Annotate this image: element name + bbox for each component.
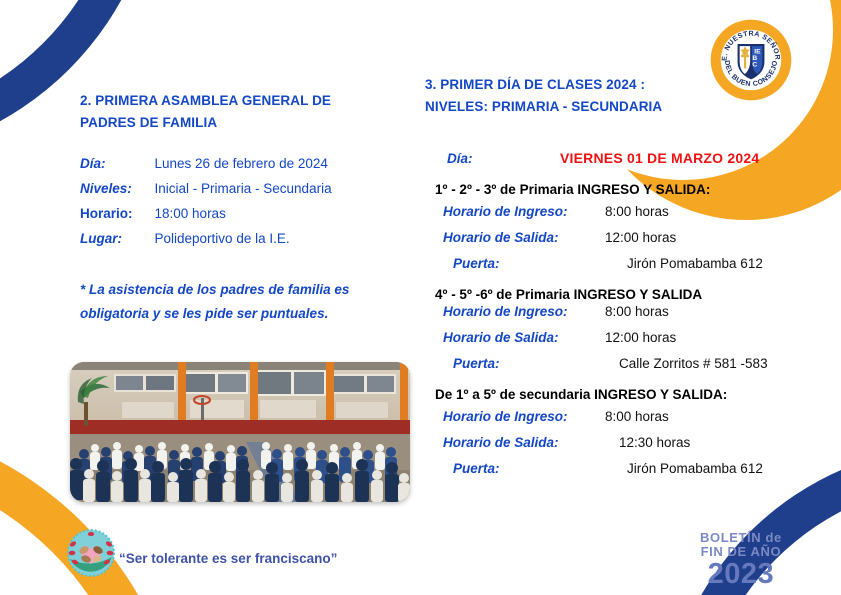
left-heading-line-1: 2. PRIMERA ASAMBLEA GENERAL DE: [80, 93, 331, 108]
row-value-horario-salida: 12:00 horas: [605, 330, 676, 345]
right-heading-line-1: 3. PRIMER DÍA DE CLASES 2024 :: [425, 77, 645, 92]
left-section-heading: 2. PRIMERA ASAMBLEA GENERAL DE PADRES DE…: [80, 90, 410, 134]
asamblea-details-table: Día: Lunes 26 de febrero de 2024 Niveles…: [80, 156, 332, 256]
table-row: Lugar: Polideportivo de la I.E.: [80, 231, 332, 256]
row-value-puerta: Jirón Pomabamba 612: [605, 461, 763, 476]
row-value-horario-salida: 12:00 horas: [605, 230, 676, 245]
schedule-group-primaria-1-3: 1º - 2º - 3º de Primaria INGRESO Y SALID…: [425, 182, 825, 271]
right-heading-line-2: NIVELES: PRIMARIA - SECUNDARIA: [425, 99, 662, 114]
section-primer-dia-de-clases: 3. PRIMER DÍA DE CLASES 2024 : NIVELES: …: [425, 74, 825, 487]
row-label-puerta: Puerta:: [425, 256, 605, 271]
franciscano-logo-icon: [66, 528, 116, 578]
left-heading-line-2: PADRES DE FAMILIA: [80, 115, 217, 130]
primer-dia-date-row: Día: VIERNES 01 DE MARZO 2024: [425, 150, 825, 166]
detail-label-niveles: Niveles:: [80, 181, 155, 206]
schedule-row: Puerta: Jirón Pomabamba 612: [425, 461, 825, 476]
detail-label-lugar: Lugar:: [80, 231, 155, 256]
school-tagline: “Ser tolerante es ser franciscano”: [119, 551, 337, 566]
dia-value: VIERNES 01 DE MARZO 2024: [560, 150, 759, 166]
schedule-row: Horario de Salida: 12:00 horas: [425, 230, 825, 245]
boletin-line-2: FIN DE AÑO: [700, 545, 782, 559]
detail-value-horario: 18:00 horas: [155, 206, 332, 231]
table-row: Niveles: Inicial - Primaria - Secundaria: [80, 181, 332, 206]
schedule-row: Puerta: Jirón Pomabamba 612: [425, 256, 825, 271]
row-value-horario-ingreso: 8:00 horas: [605, 409, 669, 424]
row-label-puerta: Puerta:: [425, 461, 605, 476]
detail-value-niveles: Inicial - Primaria - Secundaria: [155, 181, 332, 206]
row-label-horario-ingreso: Horario de Ingreso:: [425, 204, 605, 219]
group-title: 4º - 5º -6º de Primaria INGRESO Y SALIDA: [425, 287, 825, 302]
schedule-group-secundaria: De 1º a 5º de secundaria INGRESO Y SALID…: [425, 387, 825, 476]
section-asamblea-general: 2. PRIMERA ASAMBLEA GENERAL DE PADRES DE…: [80, 90, 410, 326]
attendance-note: * La asistencia de los padres de familia…: [80, 278, 410, 326]
detail-value-lugar: Polideportivo de la I.E.: [155, 231, 332, 256]
table-row: Horario: 18:00 horas: [80, 206, 332, 231]
group-title: De 1º a 5º de secundaria INGRESO Y SALID…: [425, 387, 825, 402]
row-value-horario-salida: 12:30 horas: [605, 435, 690, 450]
boletin-year: 2023: [700, 560, 782, 589]
row-label-puerta: Puerta:: [425, 356, 605, 371]
row-value-puerta: Jirón Pomabamba 612: [605, 256, 763, 271]
schedule-row: Puerta: Calle Zorritos # 581 -583: [425, 356, 825, 371]
schedule-row: Horario de Salida: 12:00 horas: [425, 330, 825, 345]
detail-label-horario: Horario:: [80, 206, 155, 231]
row-value-horario-ingreso: 8:00 horas: [605, 304, 669, 319]
school-assembly-photo: [70, 362, 410, 502]
detail-label-dia: Día:: [80, 156, 155, 181]
group-title: 1º - 2º - 3º de Primaria INGRESO Y SALID…: [425, 182, 825, 197]
row-label-horario-salida: Horario de Salida:: [425, 330, 605, 345]
schedule-group-primaria-4-6: 4º - 5º -6º de Primaria INGRESO Y SALIDA…: [425, 287, 825, 371]
boletin-line-1: BOLETÍN de: [700, 531, 782, 545]
schedule-row: Horario de Salida: 12:30 horas: [425, 435, 825, 450]
attendance-note-line-1: * La asistencia de los padres de familia…: [80, 282, 349, 297]
table-row: Día: Lunes 26 de febrero de 2024: [80, 156, 332, 181]
svg-text:C: C: [752, 62, 757, 69]
row-label-horario-salida: Horario de Salida:: [425, 435, 605, 450]
row-label-horario-salida: Horario de Salida:: [425, 230, 605, 245]
detail-value-dia: Lunes 26 de febrero de 2024: [155, 156, 332, 181]
schedule-row: Horario de Ingreso: 8:00 horas: [425, 204, 825, 219]
row-label-horario-ingreso: Horario de Ingreso:: [425, 304, 605, 319]
schedule-row: Horario de Ingreso: 8:00 horas: [425, 304, 825, 319]
attendance-note-line-2: obligatoria y se les pide ser puntuales.: [80, 306, 328, 321]
school-crest-icon: I.E. NUESTRA SEÑORA DEL BUEN CONSEJO IE …: [709, 18, 793, 102]
newsletter-page: I.E. NUESTRA SEÑORA DEL BUEN CONSEJO IE …: [0, 0, 841, 595]
row-label-horario-ingreso: Horario de Ingreso:: [425, 409, 605, 424]
schedule-row: Horario de Ingreso: 8:00 horas: [425, 409, 825, 424]
boletin-badge: BOLETÍN de FIN DE AÑO 2023: [700, 531, 782, 589]
row-value-puerta: Calle Zorritos # 581 -583: [605, 356, 768, 371]
row-value-horario-ingreso: 8:00 horas: [605, 204, 669, 219]
dia-label: Día:: [425, 151, 560, 166]
